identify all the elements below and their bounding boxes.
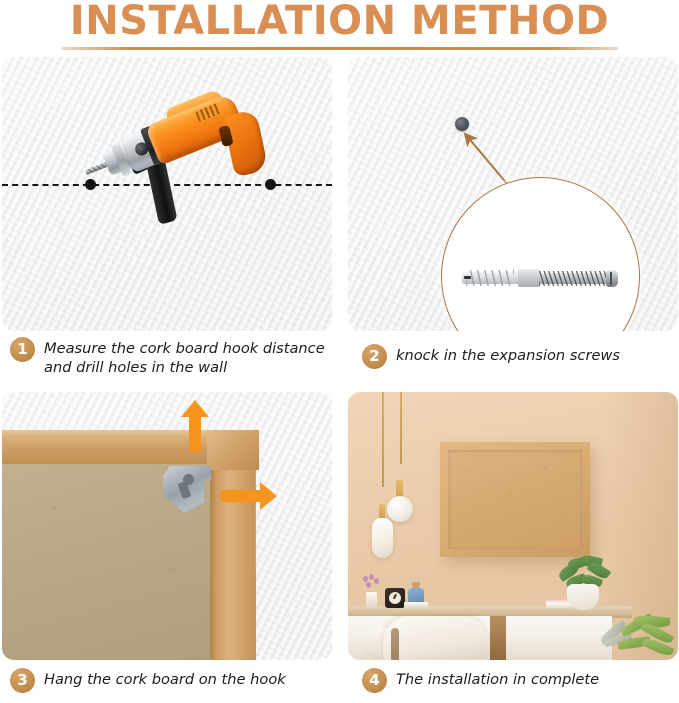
pendant-cord-a <box>382 392 384 487</box>
floor-plant <box>596 616 678 660</box>
step-badge-2: 2 <box>362 344 387 369</box>
step-2-caption-text: knock in the expansion screws <box>396 344 620 365</box>
drill-bit-flutes <box>86 162 108 175</box>
step-2-image <box>348 57 678 331</box>
step-badge-1: 1 <box>10 337 35 362</box>
electric-drill <box>72 66 297 258</box>
title-divider <box>62 47 618 50</box>
step-3-caption-text: Hang the cork board on the hook <box>44 668 286 689</box>
flower-bloom <box>374 578 379 584</box>
step-4-caption-text: The installation in complete <box>396 668 599 689</box>
step-3-image <box>2 392 332 660</box>
step-3-caption: 3 Hang the cork board on the hook <box>10 668 330 693</box>
step-4-image <box>348 392 678 660</box>
mounted-cork-board <box>440 442 590 557</box>
step-badge-3: 3 <box>10 668 35 693</box>
anchor-fins <box>466 270 514 286</box>
step-4-caption: 4 The installation in complete <box>362 668 672 693</box>
title-block: INSTALLATION METHOD <box>0 0 679 56</box>
anchor-collar <box>518 269 540 287</box>
flower-bloom <box>366 582 371 588</box>
cork-surface <box>448 450 582 549</box>
step-badge-4: 4 <box>362 668 387 693</box>
vase-body <box>366 592 377 608</box>
step-1-caption: 1 Measure the cork board hook distance a… <box>10 337 330 377</box>
arrow-up-icon <box>180 400 210 452</box>
step-1-caption-text: Measure the cork board hook distance and… <box>44 337 330 377</box>
desk-opening <box>490 616 506 660</box>
chair-seam <box>391 628 399 660</box>
screw-threads <box>539 271 609 286</box>
pendant-cord-b <box>400 392 402 464</box>
book-stack-left <box>404 602 428 609</box>
arrow-right-icon <box>221 481 277 511</box>
page-title: INSTALLATION METHOD <box>0 0 679 44</box>
screw-head <box>606 270 618 287</box>
pendant-globe-lamp <box>387 496 413 522</box>
step-2-caption: 2 knock in the expansion screws <box>362 344 672 369</box>
step-1-image <box>2 57 332 331</box>
screw-head-slot <box>610 272 612 285</box>
plant-pot <box>567 584 599 610</box>
keyhole-hanger-bracket <box>163 466 211 518</box>
frame-miter-corner <box>207 430 259 470</box>
anchor-and-screw <box>462 265 622 289</box>
pendant-cylinder-lamp <box>372 518 393 558</box>
flower-vase <box>362 574 380 608</box>
anchor-tip-slot <box>464 276 471 279</box>
